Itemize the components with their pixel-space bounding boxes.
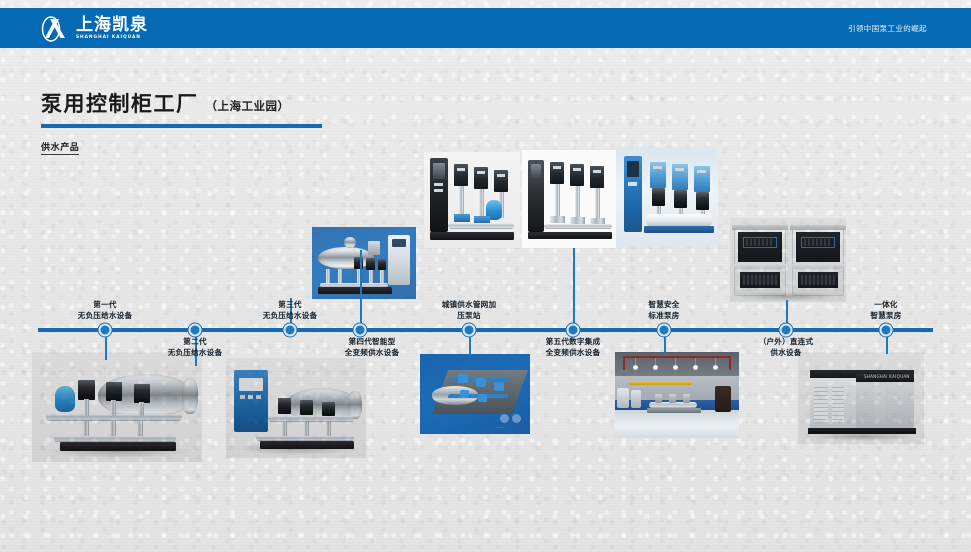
timeline-label-gen2-line2: 无负压给水设备 [168, 347, 223, 358]
timeline-label-smart-pump-room: 智慧安全 标准泵房 [648, 299, 679, 321]
photo-smart-pump-room-canvas [615, 352, 739, 438]
photo-gen4-canvas [424, 152, 520, 248]
page-title-block: 泵用控制柜工厂 （上海工业园） 供水产品 [41, 88, 322, 155]
timeline-label-gen5: 第五代数字集成 全变频供水设备 [546, 336, 601, 358]
timeline-node-gen2[interactable] [189, 324, 202, 337]
photo-gen2-canvas [226, 358, 366, 458]
title-underline [41, 124, 322, 128]
photo-booster-station-canvas: ····· [420, 354, 530, 434]
timeline-axis [38, 328, 933, 332]
timeline-label-integrated-smart-room: 一体化 智慧泵房 [870, 299, 901, 321]
photo-smart-pump-room [615, 352, 739, 438]
photo-gen3-canvas [312, 227, 416, 299]
timeline-label-gen4: 第四代智能型 全变频供水设备 [345, 336, 400, 358]
timeline-label-gen4-line2: 全变频供水设备 [345, 347, 400, 358]
photo-gen1-canvas [32, 352, 202, 462]
slide-page: 上海凯泉 SHANGHAI KAIQUAN 引领中国泵工业的崛起 泵用控制柜工厂… [0, 0, 971, 552]
timeline-label-outdoor-line2: 供水设备 [759, 347, 814, 358]
timeline-label-gen2: 第二代 无负压给水设备 [168, 336, 223, 358]
photo-outdoor-direct [730, 218, 846, 302]
timeline-label-gen1-line1: 第一代 [78, 299, 133, 310]
title-row: 泵用控制柜工厂 （上海工业园） [41, 88, 322, 118]
timeline-node-outdoor-direct[interactable] [780, 324, 793, 337]
page-subtitle: （上海工业园） [206, 98, 290, 114]
timeline-label-gen2-line1: 第二代 [168, 336, 223, 347]
timeline-label-booster-station: 城镇供水管网加 压泵站 [442, 299, 497, 321]
photo-gen1 [32, 352, 202, 462]
photo-gen4 [424, 152, 520, 248]
timeline-label-smart-room-line1: 智慧安全 [648, 299, 679, 310]
timeline-stem-gen4 [360, 250, 362, 330]
photo-integrated-smart-room-canvas: SHANGHAI KAIQUAN [798, 352, 924, 444]
header-slogan: 引领中国泵工业的崛起 [848, 8, 927, 48]
timeline-label-outdoor-direct: （户外）直连式 供水设备 [759, 336, 814, 358]
timeline-node-gen1[interactable] [99, 324, 112, 337]
brand-logo[interactable]: 上海凯泉 SHANGHAI KAIQUAN [40, 14, 148, 43]
photo-gen5-b-canvas [522, 150, 616, 248]
timeline-label-integrated-line2: 智慧泵房 [870, 310, 901, 321]
timeline-node-gen4[interactable] [354, 324, 367, 337]
timeline-label-gen3-line1: 第三代 [263, 299, 318, 310]
timeline-label-outdoor-line1: （户外）直连式 [759, 336, 814, 347]
timeline-label-integrated-line1: 一体化 [870, 299, 901, 310]
timeline-node-gen5[interactable] [567, 324, 580, 337]
timeline-label-gen1: 第一代 无负压给水设备 [78, 299, 133, 321]
timeline-label-gen3-line2: 无负压给水设备 [263, 310, 318, 321]
timeline-node-gen3[interactable] [284, 324, 297, 337]
photo-outdoor-direct-canvas [730, 218, 846, 302]
header-bar: 上海凯泉 SHANGHAI KAIQUAN 引领中国泵工业的崛起 [0, 8, 971, 48]
photo-gen5-c [616, 148, 718, 246]
timeline-node-integrated-smart-room[interactable] [880, 324, 893, 337]
timeline-label-gen1-line2: 无负压给水设备 [78, 310, 133, 321]
section-label: 供水产品 [41, 140, 79, 155]
photo-booster-station: ····· [420, 354, 530, 434]
timeline-stem-gen5 [573, 248, 575, 330]
photo-gen5-c-canvas [616, 148, 718, 246]
photo-gen5-b [522, 150, 616, 248]
timeline-label-gen4-line1: 第四代智能型 [345, 336, 400, 347]
timeline-label-smart-room-line2: 标准泵房 [648, 310, 679, 321]
timeline-label-gen5-line1: 第五代数字集成 [546, 336, 601, 347]
brand-name-en: SHANGHAI KAIQUAN [76, 36, 148, 40]
timeline-label-gen3: 第三代 无负压给水设备 [263, 299, 318, 321]
page-title: 泵用控制柜工厂 [41, 88, 199, 118]
brand-name-cn: 上海凯泉 [76, 17, 148, 34]
timeline-label-booster-line2: 压泵站 [442, 310, 497, 321]
photo-integrated-smart-room: SHANGHAI KAIQUAN [798, 352, 924, 444]
timeline-node-smart-pump-room[interactable] [658, 324, 671, 337]
timeline-label-booster-line1: 城镇供水管网加 [442, 299, 497, 310]
brand-logo-text: 上海凯泉 SHANGHAI KAIQUAN [76, 17, 148, 40]
kaiquan-logo-icon [40, 15, 70, 43]
photo-gen2 [226, 358, 366, 458]
photo-gen3 [312, 227, 416, 299]
timeline-label-gen5-line2: 全变频供水设备 [546, 347, 601, 358]
timeline-node-booster-station[interactable] [463, 324, 476, 337]
